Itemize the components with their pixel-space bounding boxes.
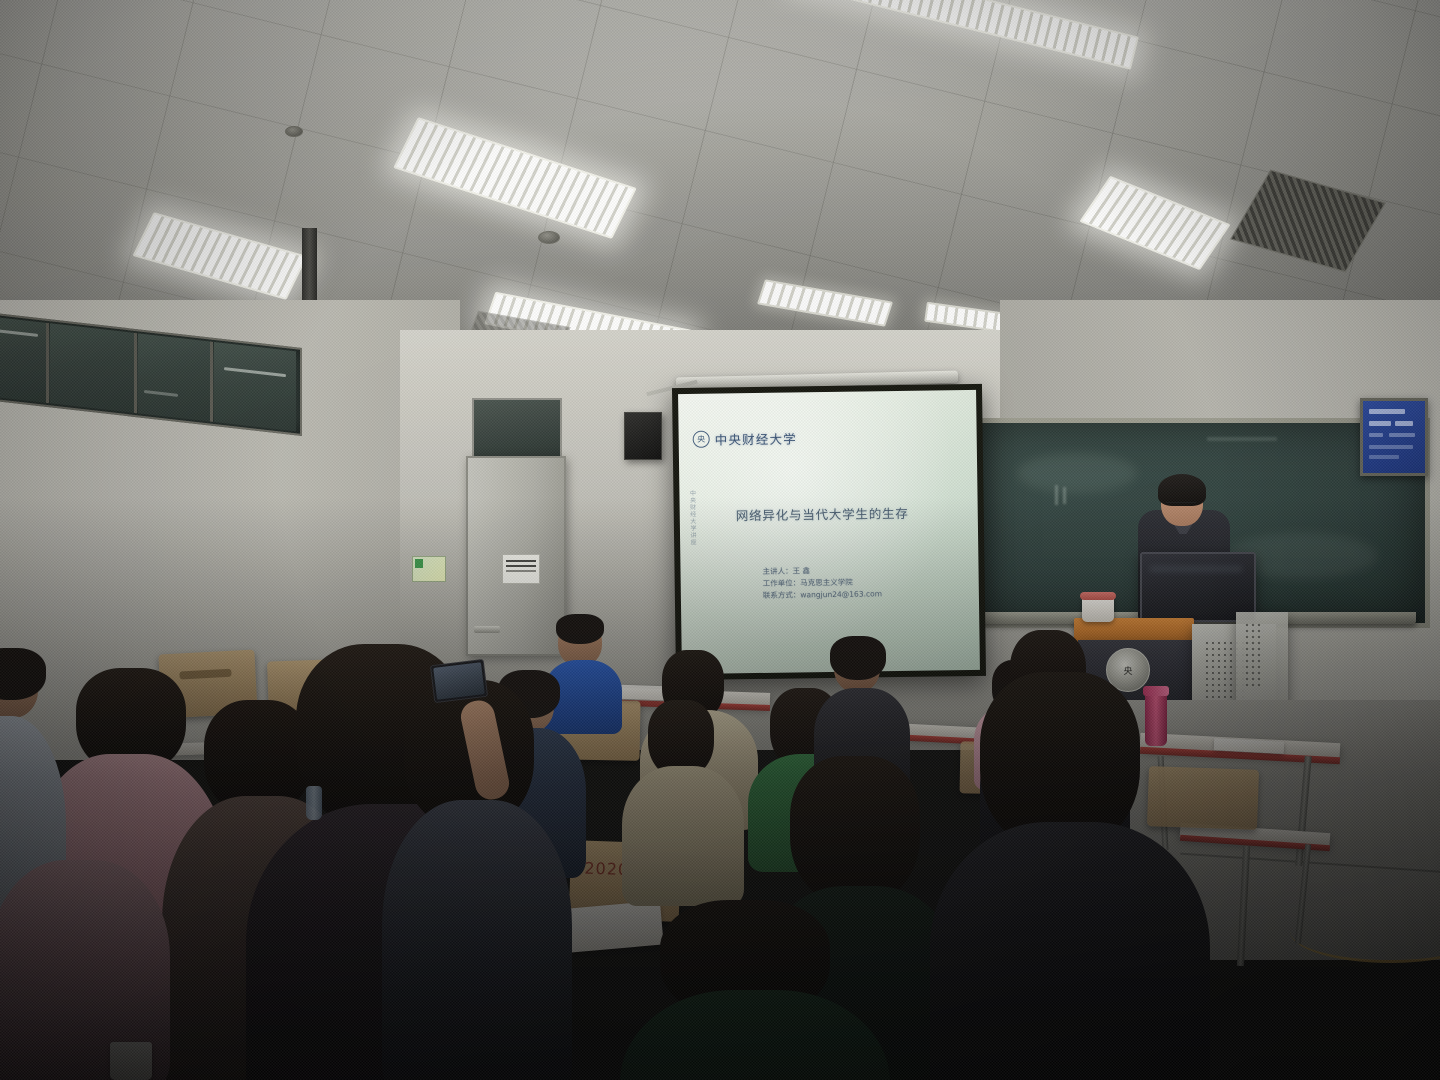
slide-meta-line-1: 主讲人：王 鑫 xyxy=(762,566,810,576)
door-handle[interactable] xyxy=(474,626,500,633)
chairback-right-2 xyxy=(1147,766,1259,830)
phone-screen xyxy=(433,662,485,700)
monitor-screen-glow xyxy=(1150,566,1242,572)
student-hair xyxy=(556,614,604,644)
board-smudge-1 xyxy=(1017,453,1137,493)
classroom-photo: 央 中央财经大学 网络异化与当代大学生的生存 主讲人：王 鑫 工作单位：马克思主… xyxy=(0,0,1440,1080)
student-torso-recorder xyxy=(382,800,572,1080)
slide-meta-line-2: 工作单位：马克思主义学院 xyxy=(763,578,853,589)
speaker-icon xyxy=(624,412,662,460)
pink-water-bottle xyxy=(1145,692,1167,746)
board-chalk-mark-2 xyxy=(1063,487,1066,504)
window-pane-3 xyxy=(138,333,213,422)
projection-screen: 央 中央财经大学 网络异化与当代大学生的生存 主讲人：王 鑫 工作单位：马克思主… xyxy=(672,384,986,680)
blue-notice-board xyxy=(1360,398,1428,476)
window-pane-4 xyxy=(214,342,296,431)
student-torso-right-black xyxy=(930,822,1210,1080)
recording-phone xyxy=(430,659,488,703)
equipment-cabinet-grille xyxy=(1244,622,1264,688)
slide-side-text: 中央财经大学讲座 xyxy=(687,490,697,580)
window-pane-1 xyxy=(0,316,49,403)
chairback-slot xyxy=(179,669,231,680)
slide-university-logo: 央 中央财经大学 xyxy=(693,428,797,448)
smoke-detector-icon xyxy=(538,231,560,244)
slide-title: 网络异化与当代大学生的生存 xyxy=(736,503,909,524)
door-notice-sheet xyxy=(502,554,540,584)
university-seal-icon: 央 xyxy=(693,431,710,448)
board-chalk-mark xyxy=(1055,485,1058,505)
classroom-door[interactable] xyxy=(466,456,566,656)
slide-meta-line-3: 联系方式：wangjun24@163.com xyxy=(763,589,882,600)
board-chalk-dust xyxy=(1207,437,1277,441)
cup-foreground xyxy=(110,1042,152,1080)
lecturer-glasses-icon xyxy=(1166,498,1196,503)
door-transom-window xyxy=(472,398,562,458)
student-torso-teal xyxy=(622,766,744,906)
window-pane-2 xyxy=(50,323,137,413)
small-bottle-crowd xyxy=(306,786,322,820)
student-hair-center xyxy=(790,756,920,906)
slide-university-name: 中央财经大学 xyxy=(715,428,797,448)
pink-bottle-cap xyxy=(1143,686,1169,696)
student-hair-right xyxy=(830,636,886,680)
smoke-detector-icon-2 xyxy=(285,126,303,137)
podium-mug-lid xyxy=(1080,592,1116,600)
wall-safety-sign xyxy=(412,556,446,582)
slide-content: 央 中央财经大学 网络异化与当代大学生的生存 主讲人：王 鑫 工作单位：马克思主… xyxy=(678,390,980,674)
